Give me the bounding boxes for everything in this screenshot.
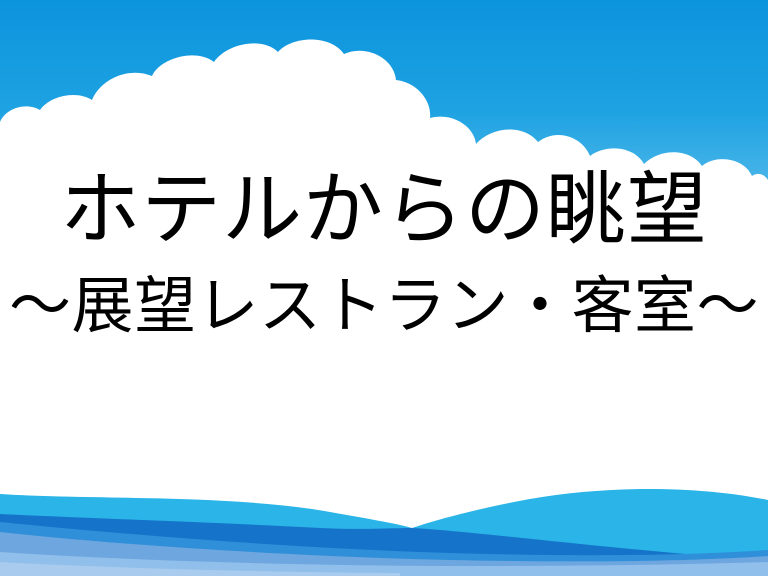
title-slide: ホテルからの眺望 〜展望レストラン・客室〜 [0, 0, 768, 576]
title-text-block: ホテルからの眺望 〜展望レストラン・客室〜 [0, 168, 768, 342]
page-subtitle: 〜展望レストラン・客室〜 [0, 269, 768, 342]
wave-graphic [0, 466, 768, 576]
wave-footer-decoration [0, 466, 768, 576]
page-title: ホテルからの眺望 [0, 168, 768, 253]
